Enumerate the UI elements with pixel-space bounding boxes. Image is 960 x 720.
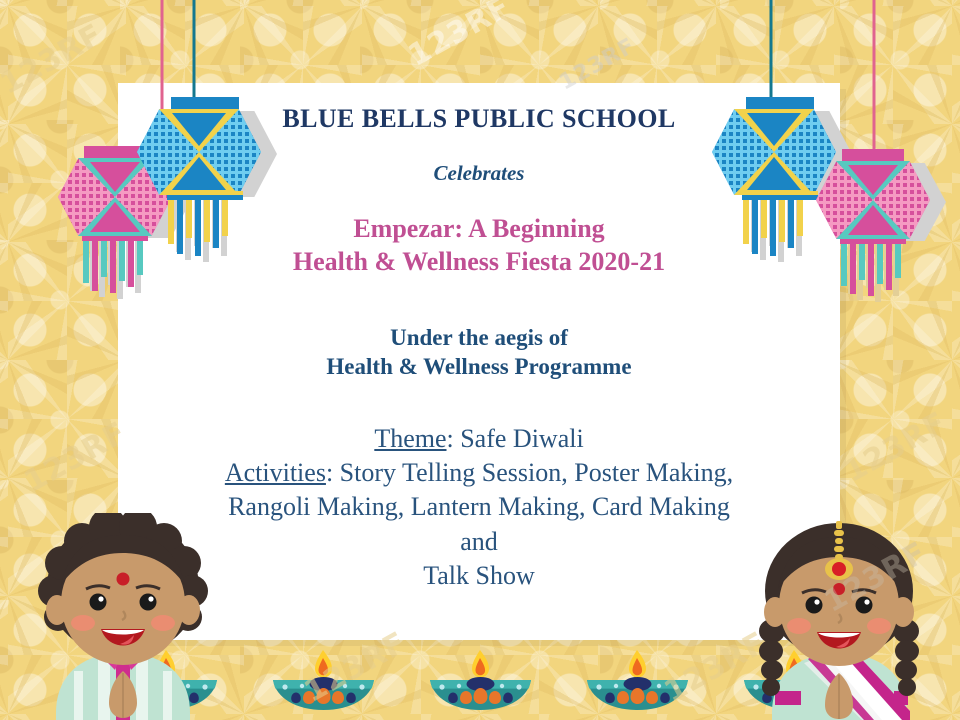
- lantern-cap: [746, 97, 814, 109]
- lantern-cord-left-inner: [192, 0, 195, 100]
- cord-line: [192, 0, 195, 100]
- activities-line-3: and: [148, 525, 810, 559]
- activities-line-4: Talk Show: [148, 559, 810, 593]
- cord-line: [769, 0, 772, 100]
- lantern-cord-right-outer: [872, 0, 875, 150]
- activities-line-1-text: : Story Telling Session, Poster Making,: [326, 458, 733, 487]
- lantern-right-outer: [810, 145, 950, 335]
- aegis-line-2: Health & Wellness Programme: [148, 352, 810, 381]
- lantern-fringe: [168, 200, 228, 256]
- diwali-oil-lamp: [428, 644, 533, 712]
- cord-line: [872, 0, 875, 150]
- theme-row: Theme: Safe Diwali: [148, 422, 810, 456]
- aegis-line-1: Under the aegis of: [148, 323, 810, 352]
- activities-line-2: Rangoli Making, Lantern Making, Card Mak…: [148, 490, 810, 524]
- activities-block: Activities: Story Telling Session, Poste…: [148, 456, 810, 593]
- lantern-left-inner: [125, 95, 280, 295]
- lantern-cap: [842, 149, 904, 161]
- theme-label: Theme: [374, 424, 446, 453]
- theme-value: : Safe Diwali: [447, 424, 584, 453]
- aegis-block: Under the aegis of Health & Wellness Pro…: [148, 323, 810, 382]
- lantern-fringe: [841, 244, 901, 296]
- lantern-fringe: [743, 200, 803, 256]
- diwali-event-poster: BLUE BELLS PUBLIC SCHOOL Celebrates Empe…: [0, 0, 960, 720]
- indian-boy-namaste: [28, 513, 218, 720]
- activities-label: Activities: [225, 458, 326, 487]
- lantern-cord-right-inner: [769, 0, 772, 100]
- diwali-oil-lamp: [271, 644, 376, 712]
- activities-line-1: Activities: Story Telling Session, Poste…: [148, 456, 810, 490]
- lantern-cap: [171, 97, 239, 109]
- diwali-oil-lamp: [585, 644, 690, 712]
- indian-girl-namaste: [742, 513, 937, 720]
